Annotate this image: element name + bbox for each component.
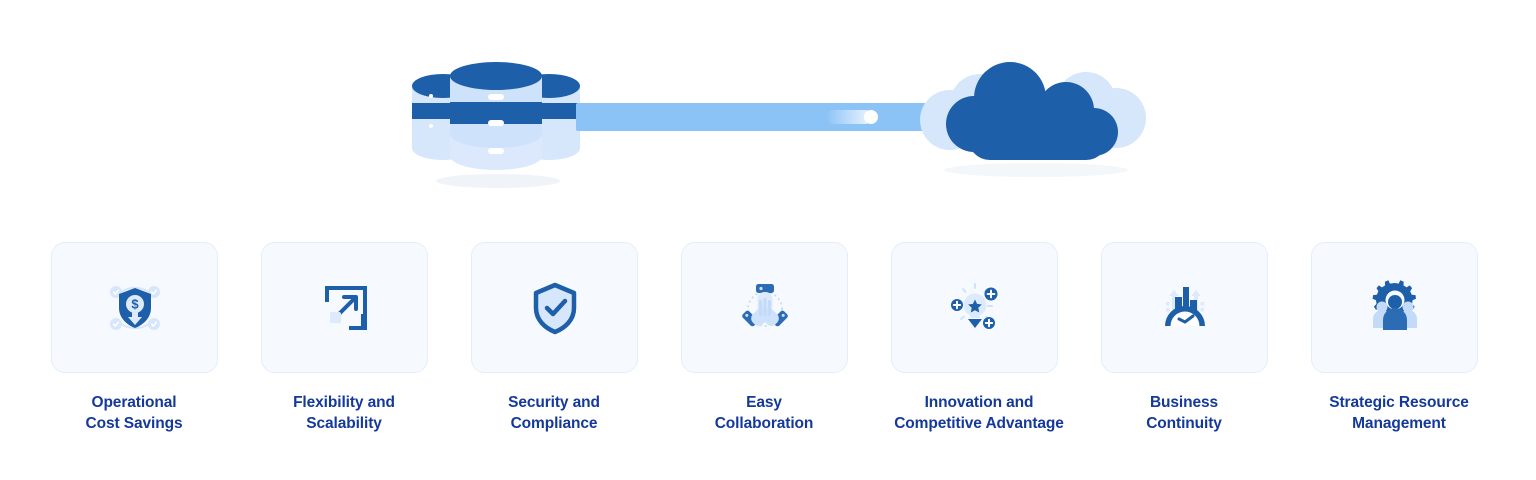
benefit-label-easy-collaboration: Easy Collaboration — [644, 392, 884, 434]
benefit-label-line2: Competitive Advantage — [859, 413, 1099, 434]
gear-people-resource-icon — [1363, 276, 1427, 340]
benefit-label-business-continuity: Business Continuity — [1064, 392, 1304, 434]
benefit-card-security-compliance[interactable] — [471, 242, 638, 373]
clock-buildings-continuity-icon — [1153, 276, 1217, 340]
benefit-card-flexibility-scalability[interactable] — [261, 242, 428, 373]
benefit-label-operational-cost-savings: Operational Cost Savings — [14, 392, 254, 434]
handshake-collaboration-icon — [733, 276, 797, 340]
benefit-label-row: Operational Cost Savings Flexibility and… — [0, 392, 1536, 452]
benefit-card-operational-cost-savings[interactable]: $ — [51, 242, 218, 373]
benefit-label-line2: Cost Savings — [14, 413, 254, 434]
benefit-label-line1: Business — [1150, 394, 1218, 411]
benefit-card-business-continuity[interactable] — [1101, 242, 1268, 373]
benefit-label-security-compliance: Security and Compliance — [434, 392, 674, 434]
benefit-label-line2: Management — [1279, 413, 1519, 434]
benefit-label-flexibility-scalability: Flexibility and Scalability — [224, 392, 464, 434]
benefit-label-line1: Operational — [91, 394, 176, 411]
benefit-card-innovation-competitive-advantage[interactable] — [891, 242, 1058, 373]
benefit-label-line2: Continuity — [1064, 413, 1304, 434]
benefit-card-row: $ — [0, 242, 1536, 374]
benefit-label-line1: Strategic Resource — [1329, 394, 1468, 411]
expand-arrow-scalability-icon — [313, 276, 377, 340]
shield-check-security-icon — [523, 276, 587, 340]
benefit-label-line1: Flexibility and — [293, 394, 395, 411]
data-packet-icon — [864, 110, 878, 124]
infographic-canvas: $ — [0, 0, 1536, 480]
benefit-label-line1: Security and — [508, 394, 600, 411]
data-pipe-connector — [576, 103, 946, 131]
lightbulb-star-innovation-icon — [943, 276, 1007, 340]
database-stack-icon — [406, 58, 586, 188]
benefit-label-line1: Innovation and — [925, 394, 1034, 411]
benefit-card-strategic-resource-management[interactable] — [1311, 242, 1478, 373]
benefit-label-line2: Collaboration — [644, 413, 884, 434]
benefit-label-line2: Compliance — [434, 413, 674, 434]
benefit-label-strategic-resource-management: Strategic Resource Management — [1279, 392, 1519, 434]
benefit-label-line2: Scalability — [224, 413, 464, 434]
benefit-label-innovation-competitive-advantage: Innovation and Competitive Advantage — [859, 392, 1099, 434]
hero-illustration — [0, 0, 1536, 220]
cloud-icon — [908, 48, 1158, 178]
svg-text:$: $ — [131, 296, 139, 311]
shield-dollar-savings-icon: $ — [103, 276, 167, 340]
benefit-label-line1: Easy — [746, 394, 782, 411]
benefit-card-easy-collaboration[interactable] — [681, 242, 848, 373]
